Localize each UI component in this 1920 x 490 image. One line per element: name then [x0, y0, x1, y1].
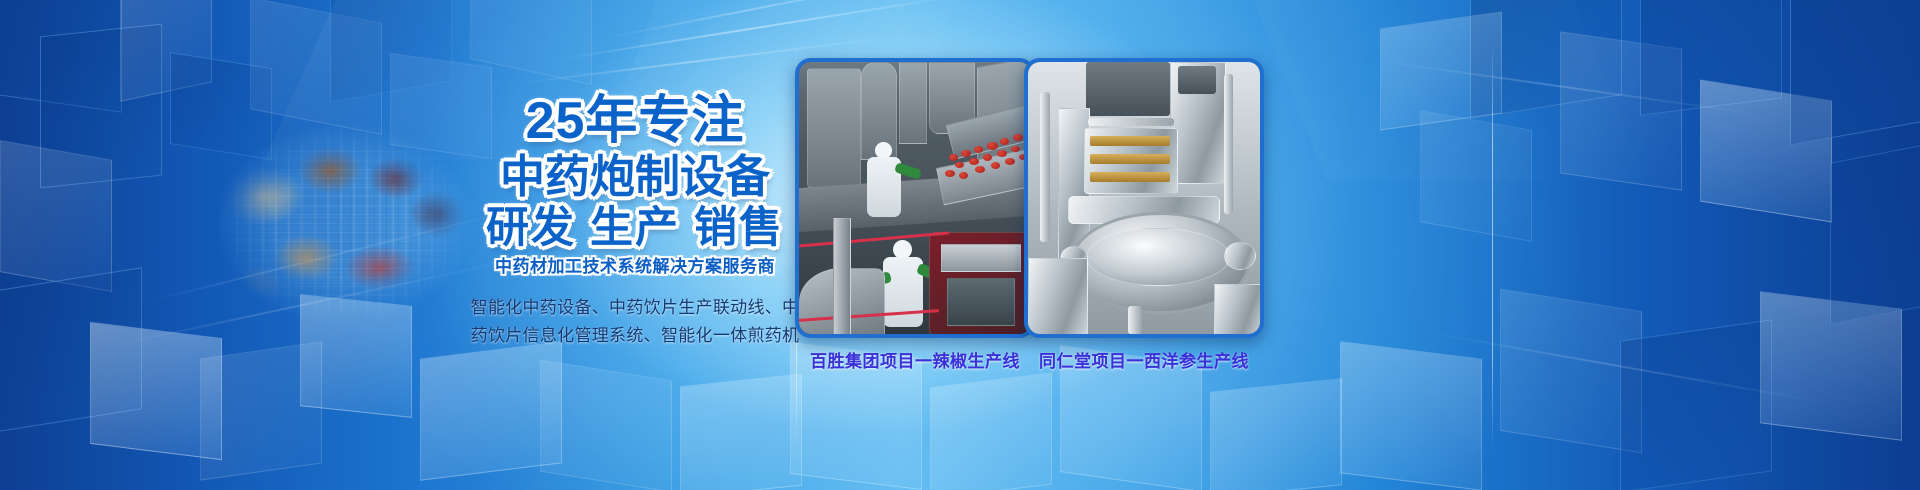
body-copy: 智能化中药设备、中药饮片生产联动线、中 药饮片信息化管理系统、智能化一体煎药机 [470, 294, 800, 349]
body-copy-line-1: 智能化中药设备、中药饮片生产联动线、中 [470, 294, 800, 322]
photo-frame-chili [795, 58, 1035, 338]
photo-caption-ginseng: 同仁堂项目一西洋参生产线 [1024, 347, 1264, 372]
photo-caption-chili: 百胜集团项目一辣椒生产线 [795, 347, 1035, 372]
body-copy-line-2: 药饮片信息化管理系统、智能化一体煎药机 [470, 322, 800, 350]
photo-frame-ginseng [1024, 58, 1264, 338]
photo-card-ginseng[interactable]: 同仁堂项目一西洋参生产线 [1024, 58, 1264, 372]
headline-line-3: 研发 生产 销售 [470, 207, 800, 250]
headline-line-1: 25年专注 [470, 95, 800, 147]
promotional-banner: 25年专注 中药炮制设备 研发 生产 销售 中药材加工技术系统解决方案服务商 智… [0, 0, 1920, 490]
headline-line-2: 中药炮制设备 [470, 154, 800, 199]
ginseng-production-line-photo [1028, 62, 1260, 334]
herbal-text-overlay [206, 112, 486, 332]
chili-production-line-photo [799, 62, 1031, 334]
headline-text-block: 25年专注 中药炮制设备 研发 生产 销售 中药材加工技术系统解决方案服务商 智… [470, 95, 800, 349]
tagline: 中药材加工技术系统解决方案服务商 [470, 257, 800, 277]
photo-card-chili[interactable]: 百胜集团项目一辣椒生产线 [795, 58, 1035, 372]
vertical-divider-right [1492, 40, 1493, 450]
